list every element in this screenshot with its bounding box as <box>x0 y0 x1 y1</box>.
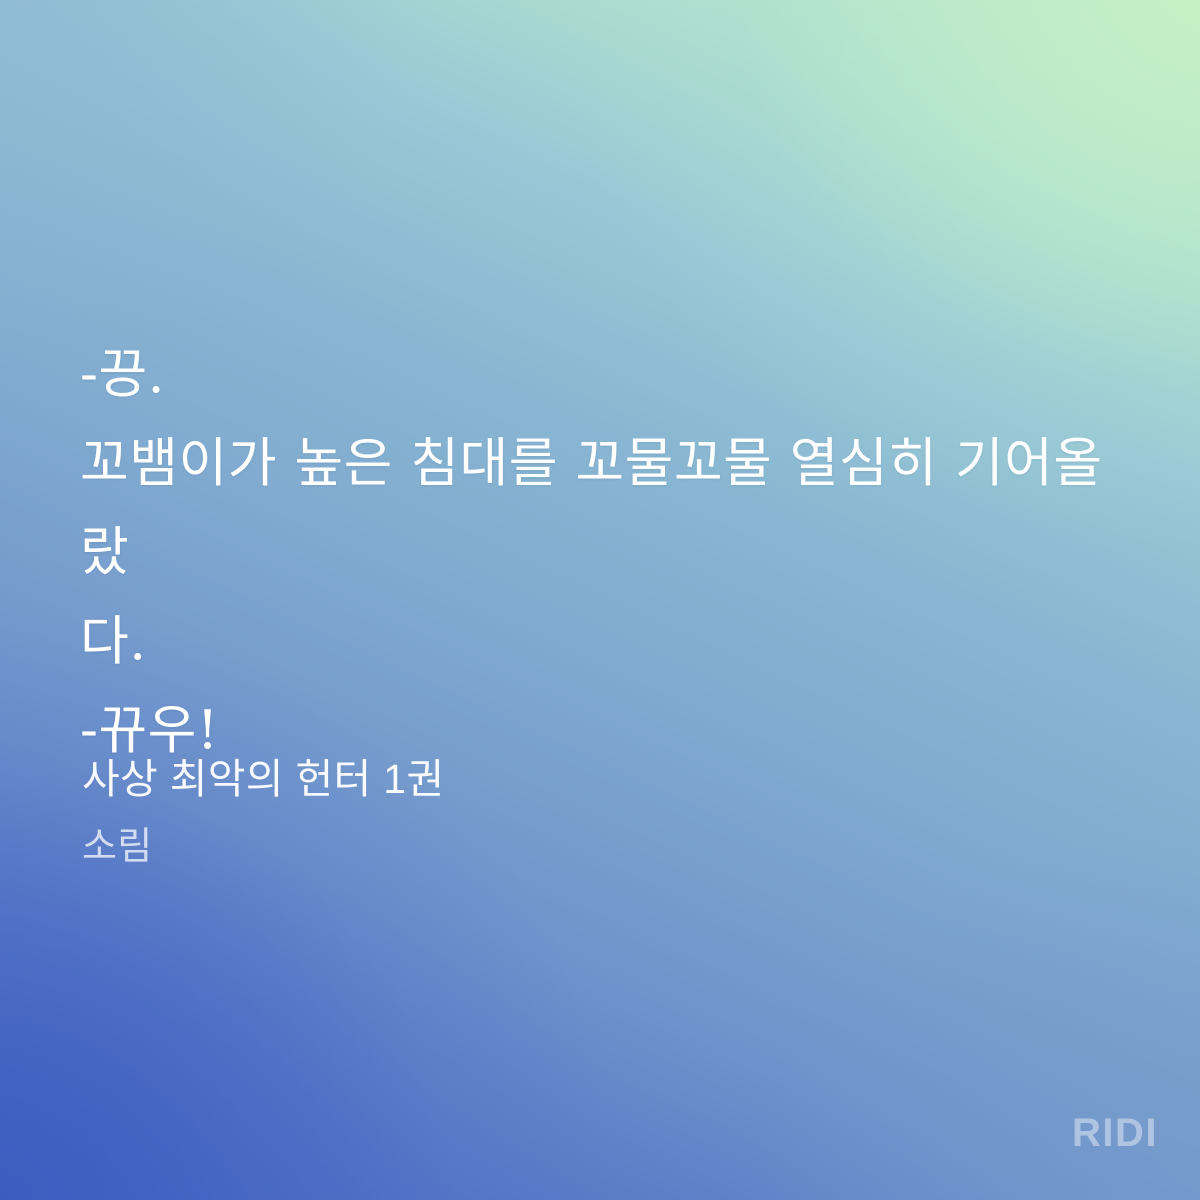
attribution-block: 사상 최악의 헌터 1권 소림 <box>82 738 1082 874</box>
card-content: -끙. 꼬뱀이가 높은 침대를 꼬물꼬물 열심히 기어올랐 다. -뀨우! 사상… <box>0 0 1200 1200</box>
quote-line-2: 꼬뱀이가 높은 침대를 꼬물꼬물 열심히 기어올랐 <box>80 419 1140 597</box>
quote-line-1: -끙. <box>80 330 1140 419</box>
book-author: 소림 <box>82 820 1082 874</box>
quote-line-3: 다. <box>80 597 1140 686</box>
book-title: 사상 최악의 헌터 1권 <box>82 738 1082 820</box>
ridi-logo: RIDI <box>1072 1111 1158 1156</box>
quote-text-block: -끙. 꼬뱀이가 높은 침대를 꼬물꼬물 열심히 기어올랐 다. -뀨우! <box>80 330 1140 775</box>
quote-card: -끙. 꼬뱀이가 높은 침대를 꼬물꼬물 열심히 기어올랐 다. -뀨우! 사상… <box>0 0 1200 1200</box>
